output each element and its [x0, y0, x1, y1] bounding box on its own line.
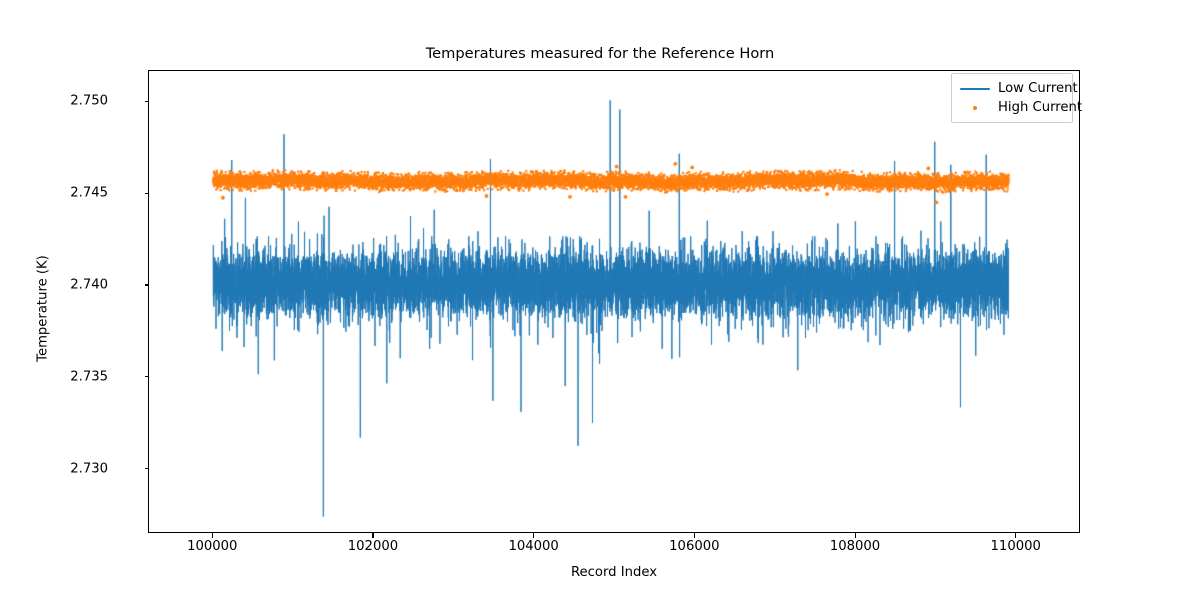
matplotlib-figure: Temperatures measured for the Reference … — [0, 0, 1200, 600]
legend-item-high-current: High Current — [958, 98, 1066, 117]
legend-label-low-current: Low Current — [998, 81, 1078, 96]
x-axis-label: Record Index — [148, 565, 1080, 580]
x-tick-mark — [1015, 533, 1016, 538]
legend-label-high-current: High Current — [998, 100, 1082, 115]
x-tick-mark — [694, 533, 695, 538]
x-tick-mark — [533, 533, 534, 538]
y-tick-mark — [145, 284, 150, 285]
y-tick-label: 2.745 — [70, 187, 108, 200]
legend: Low Current High Current — [951, 73, 1073, 123]
x-tick-mark — [212, 533, 213, 538]
chart-title: Temperatures measured for the Reference … — [0, 45, 1200, 62]
legend-dot-swatch-icon — [958, 101, 992, 115]
y-tick-label: 2.735 — [70, 370, 108, 383]
y-axis-label: Temperature (K) — [36, 229, 51, 389]
x-tick-label: 110000 — [991, 540, 1041, 554]
y-tick-label: 2.740 — [70, 278, 108, 291]
y-tick-mark — [145, 193, 150, 194]
x-tick-mark — [372, 533, 373, 538]
y-tick-mark — [145, 376, 150, 377]
legend-item-low-current: Low Current — [958, 79, 1066, 98]
x-tick-label: 106000 — [669, 540, 719, 554]
y-tick-mark — [145, 468, 150, 469]
y-tick-label: 2.750 — [70, 95, 108, 108]
x-tick-label: 104000 — [508, 540, 558, 554]
y-tick-mark — [145, 101, 150, 102]
x-tick-label: 100000 — [187, 540, 237, 554]
x-tick-mark — [855, 533, 856, 538]
legend-line-swatch-icon — [958, 82, 992, 96]
y-tick-label: 2.730 — [70, 462, 108, 475]
x-tick-label: 102000 — [348, 540, 398, 554]
plot-area — [148, 70, 1080, 533]
x-tick-label: 108000 — [830, 540, 880, 554]
data-canvas — [149, 71, 1080, 533]
